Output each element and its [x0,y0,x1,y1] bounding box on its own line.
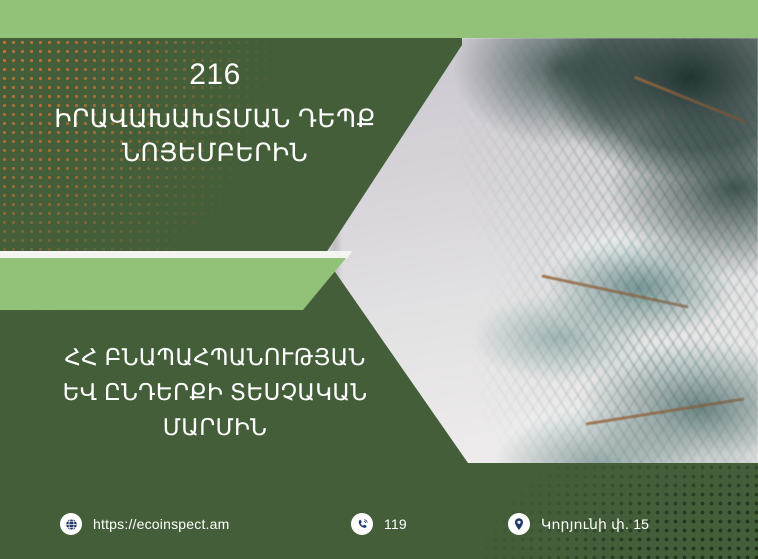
address-label: Կորյունի փ. 15 [541,516,649,533]
headline-line-2: ՆՈՅԵՄԲԵՐԻՆ [0,136,430,171]
contact-row: https://ecoinspect.am 119 Կորյունի փ [0,463,758,559]
violation-count: 216 [0,56,430,94]
poster-canvas: snow-covered evergreen spruce branches i… [0,0,758,559]
contact-phone[interactable]: 119 [351,513,407,535]
phone-icon [351,513,373,535]
contact-address[interactable]: Կորյունի փ. 15 [508,513,649,535]
organization-line-3: ՄԱՐՄԻՆ [0,410,430,445]
globe-icon [60,513,82,535]
headline-block: 216 ԻՐԱՎԱԽԱԽՏՄԱՆ ԴԵՊՔ ՆՈՅԵՄԲԵՐԻՆ [0,56,430,171]
organization-block: ՀՀ ԲՆԱՊԱՀՊԱՆՈՒԹՅԱՆ ԵՎ ԸՆԴԵՐՔԻ ՏԵՍՉԱԿԱՆ Մ… [0,340,430,445]
website-label: https://ecoinspect.am [93,516,230,532]
organization-line-2: ԵՎ ԸՆԴԵՐՔԻ ՏԵՍՉԱԿԱՆ [0,375,430,410]
headline-line-1: ԻՐԱՎԱԽԱԽՏՄԱՆ ԴԵՊՔ [0,102,430,137]
contact-website[interactable]: https://ecoinspect.am [60,513,230,535]
phone-label: 119 [384,516,407,532]
top-accent-bar [0,0,758,38]
organization-line-1: ՀՀ ԲՆԱՊԱՀՊԱՆՈՒԹՅԱՆ [0,340,430,375]
location-pin-icon [508,513,530,535]
